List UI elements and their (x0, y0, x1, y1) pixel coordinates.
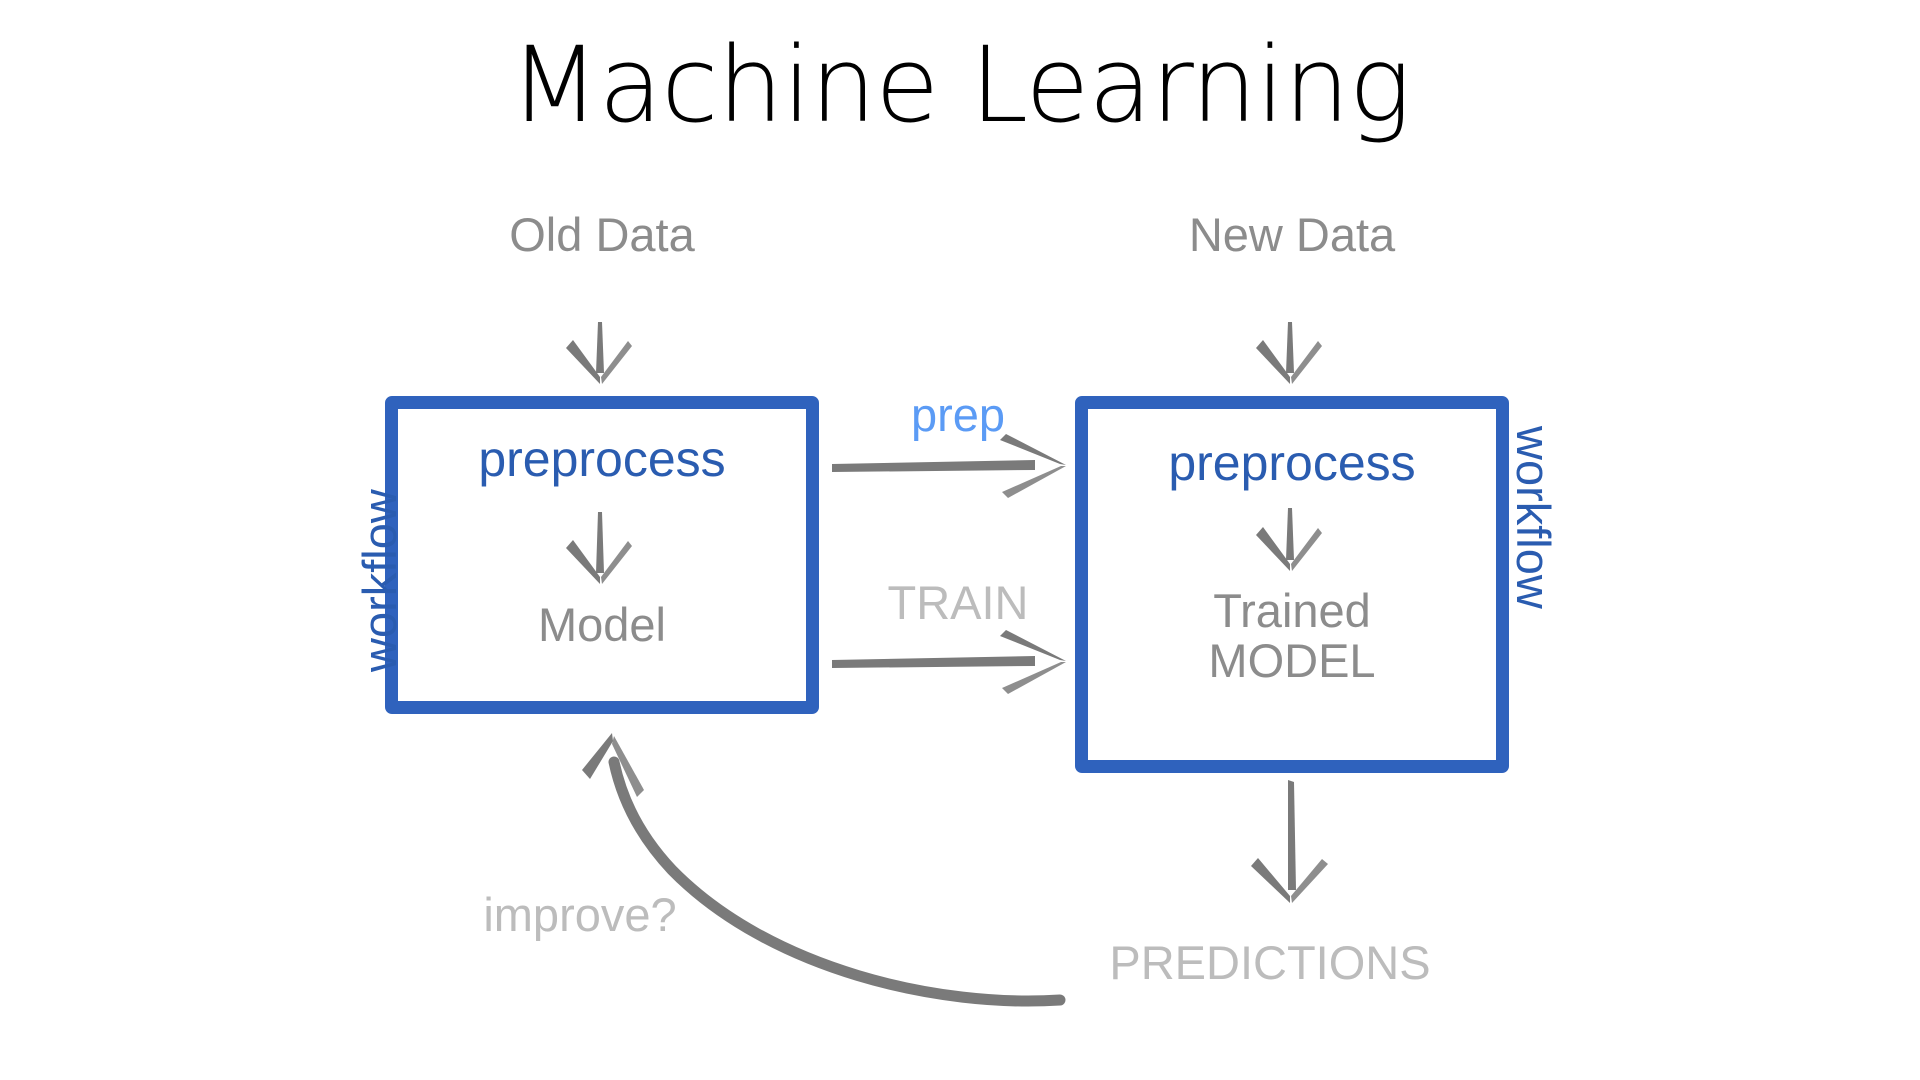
prep-label: prep (828, 390, 1088, 439)
arrow-down-icon-predictions (1251, 780, 1328, 903)
improve-label: improve? (420, 890, 740, 939)
arrow-down-icon-old-data (566, 322, 632, 384)
arrow-down-icon-new-data (1256, 322, 1322, 384)
left-model-label: Model (385, 600, 819, 649)
arrow-right-icon-prep (832, 434, 1066, 498)
train-label: TRAIN (828, 578, 1088, 627)
diagram-canvas: Machine Learning Old Data New Data prepr… (0, 0, 1920, 1080)
right-preprocess-label: preprocess (1075, 437, 1509, 490)
workflow-label-right: workflow (1506, 426, 1561, 609)
arrow-right-icon-train (832, 630, 1066, 694)
predictions-label: PREDICTIONS (1040, 938, 1500, 987)
old-data-label: Old Data (385, 210, 819, 259)
arrow-layer (0, 0, 1920, 1080)
new-data-label: New Data (1075, 210, 1509, 259)
curved-arrow-up-left-icon-improve (582, 733, 1060, 1001)
workflow-label-left: workflow (352, 489, 407, 672)
trained-model-line1: Trained (1075, 586, 1509, 635)
left-preprocess-label: preprocess (385, 433, 819, 486)
trained-model-line2: MODEL (1075, 636, 1509, 685)
page-title: Machine Learning (0, 28, 1920, 142)
